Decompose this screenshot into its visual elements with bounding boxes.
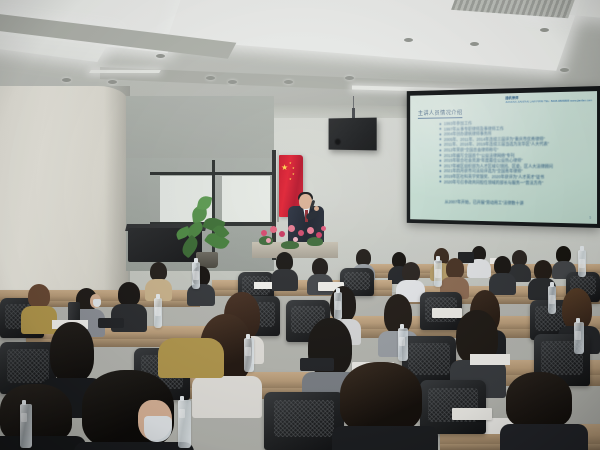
flower-foliage: [281, 241, 299, 249]
bullet-dot-icon: [439, 139, 441, 141]
flower-bloom: [270, 226, 277, 233]
flag-star-icon: ★: [292, 167, 295, 170]
window-mullion: [150, 172, 272, 175]
water-bottle: [434, 260, 442, 287]
person-torso: [332, 426, 438, 450]
open-notebook: [452, 408, 492, 420]
chair-mesh-back: [7, 349, 50, 382]
person-torso: [500, 424, 588, 450]
person-torso: [0, 436, 86, 450]
bullet-dot-icon: [439, 128, 441, 130]
chair-mesh-back: [274, 400, 335, 437]
presenter-hand: [314, 206, 319, 211]
flower-bloom: [293, 237, 298, 242]
projection-screen-surface: 主讲人员情况介绍 1993年参加工作 1997年从事专职律师及事律师工作 200…: [410, 91, 597, 224]
bullet-dot-icon: [439, 160, 441, 162]
seminar-photo: 主讲人员情况介绍 1993年参加工作 1997年从事专职律师及事律师工作 200…: [0, 0, 600, 450]
bullet-dot-icon: [439, 123, 441, 125]
downlight-icon: [62, 78, 71, 82]
person-hair: [402, 262, 420, 282]
flower-bloom: [316, 232, 322, 238]
flag-star-icon: ★: [292, 173, 295, 176]
bullet-dot-icon: [439, 181, 441, 183]
person-torso: [187, 284, 215, 306]
tablet-or-folder: [300, 358, 334, 371]
flower-bloom: [288, 225, 295, 232]
person-hair: [118, 282, 140, 306]
water-bottle: [548, 286, 556, 314]
downlight-icon: [560, 68, 569, 72]
bullet-dot-icon: [439, 149, 441, 151]
person-long-hair: [340, 362, 422, 432]
flower-bloom: [307, 227, 314, 234]
slide-firm-contact: JIANFAN JIANFAN LAW FIRM TEL: 8008-88888…: [505, 99, 592, 104]
flag-star-icon: ★: [281, 164, 288, 172]
slide-firm-logo: 建帆律师 JIANFAN JIANFAN LAW FIRM TEL: 8008-…: [505, 95, 592, 104]
person-torso: [489, 273, 516, 295]
paper-handout: [470, 354, 510, 365]
linear-light-fixture: [89, 70, 161, 73]
person-torso: [74, 442, 194, 450]
person-long-hair: [506, 372, 572, 428]
downlight-icon: [206, 76, 215, 80]
water-bottle: [574, 322, 584, 354]
downlight-icon: [284, 80, 293, 84]
downlight-icon: [156, 54, 165, 58]
flower-foliage: [307, 237, 323, 246]
flower-bloom: [279, 231, 285, 237]
downlight-icon: [470, 42, 479, 46]
slide-page-number: 5: [589, 216, 591, 220]
downlight-icon: [108, 80, 117, 84]
person-torso: [192, 376, 262, 418]
flag-star-icon: ★: [289, 162, 292, 165]
chair-mesh-back: [408, 343, 449, 375]
water-bottle: [244, 338, 254, 372]
tablet-or-folder: [98, 318, 124, 328]
slide-footer-text: 从2007年开始，已开展“劳动用工”法律数十讲: [445, 199, 524, 206]
water-bottle: [578, 250, 586, 277]
person-hair: [534, 260, 552, 280]
bullet-dot-icon: [439, 154, 441, 156]
slide-bullet-item: 2020年号召参政共同担任领域的部长与服务一“普法方舟”: [439, 179, 591, 186]
flower-bloom: [321, 226, 326, 231]
window-pane: [222, 176, 270, 222]
face-mask: [93, 299, 101, 307]
window-blind: [126, 96, 274, 158]
bullet-dot-icon: [439, 133, 441, 135]
person-torso: [271, 269, 298, 291]
open-notebook: [432, 308, 462, 318]
slide-title: 主讲人员情况介绍: [418, 108, 463, 119]
flower-arrangement: [255, 222, 333, 248]
water-bottle: [398, 328, 408, 361]
slide-bullet-list: 1993年参加工作 1997年从事专职律师及事律师工作 2004年创办建帆律师事…: [439, 119, 591, 186]
bullet-dot-icon: [439, 144, 441, 146]
person-long-hair: [0, 384, 72, 442]
downlight-icon: [345, 76, 354, 80]
person-hair: [446, 258, 464, 279]
water-bottle: [192, 262, 200, 289]
person-hair: [28, 284, 50, 308]
flower-bloom: [298, 230, 304, 236]
flower-bloom: [266, 238, 271, 243]
bullet-dot-icon: [439, 165, 441, 167]
water-bottle: [154, 298, 162, 328]
slide-bullet-text: 2020年号召参政共同担任领域的部长与服务一“普法方舟”: [444, 179, 543, 185]
bullet-dot-icon: [439, 175, 441, 177]
wall-speaker: [329, 118, 377, 151]
flower-bloom: [261, 230, 267, 236]
person-torso: [158, 338, 224, 378]
projection-screen[interactable]: 主讲人员情况介绍 1993年参加工作 1997年从事专职律师及事律师工作 200…: [407, 86, 600, 228]
downlight-icon: [228, 80, 237, 84]
water-bottle: [20, 404, 32, 448]
water-bottle: [334, 292, 342, 320]
bullet-dot-icon: [439, 170, 441, 172]
water-bottle: [178, 400, 191, 448]
paper-handout: [254, 282, 272, 289]
downlight-icon: [540, 28, 549, 32]
downlight-icon: [404, 38, 413, 42]
person-long-hair: [50, 322, 94, 382]
flag-star-icon: ★: [289, 178, 292, 181]
